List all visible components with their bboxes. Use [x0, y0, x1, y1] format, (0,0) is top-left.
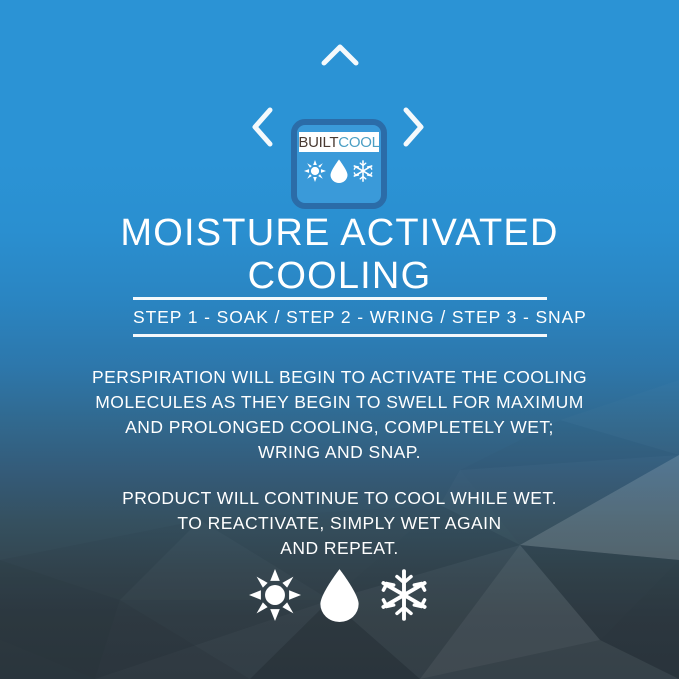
logo-icon-row	[304, 159, 374, 183]
chevron-left-icon[interactable]	[250, 106, 276, 148]
builtcool-wordmark: BUILTCOOL	[299, 132, 379, 152]
builtcool-logo-badge[interactable]: BUILTCOOL	[291, 119, 387, 209]
steps-text: STEP 1 - SOAK / STEP 2 - WRING / STEP 3 …	[133, 300, 547, 334]
description-paragraph-2: PRODUCT WILL CONTINUE TO COOL WHILE WET.…	[0, 486, 679, 561]
chevron-right-icon[interactable]	[400, 106, 426, 148]
logo-nav-cluster: BUILTCOOL	[0, 38, 679, 218]
steps-block: STEP 1 - SOAK / STEP 2 - WRING / STEP 3 …	[133, 297, 547, 337]
water-drop-icon	[329, 159, 349, 183]
sun-icon	[304, 160, 326, 182]
wordmark-cool: COOL	[338, 135, 379, 150]
feature-icon-row	[0, 568, 679, 622]
chevron-up-icon[interactable]	[320, 42, 360, 68]
snowflake-icon	[378, 569, 430, 621]
divider-bottom	[133, 334, 547, 337]
sun-icon	[249, 569, 301, 621]
water-drop-icon	[317, 568, 362, 622]
product-feature-card: BUILTCOOL	[0, 0, 679, 679]
page-title: MOISTURE ACTIVATED COOLING	[0, 212, 679, 297]
divider-top	[133, 297, 547, 300]
wordmark-built: BUILT	[298, 135, 338, 150]
snowflake-icon	[352, 160, 374, 182]
description-paragraph-1: PERSPIRATION WILL BEGIN TO ACTIVATE THE …	[0, 365, 679, 464]
